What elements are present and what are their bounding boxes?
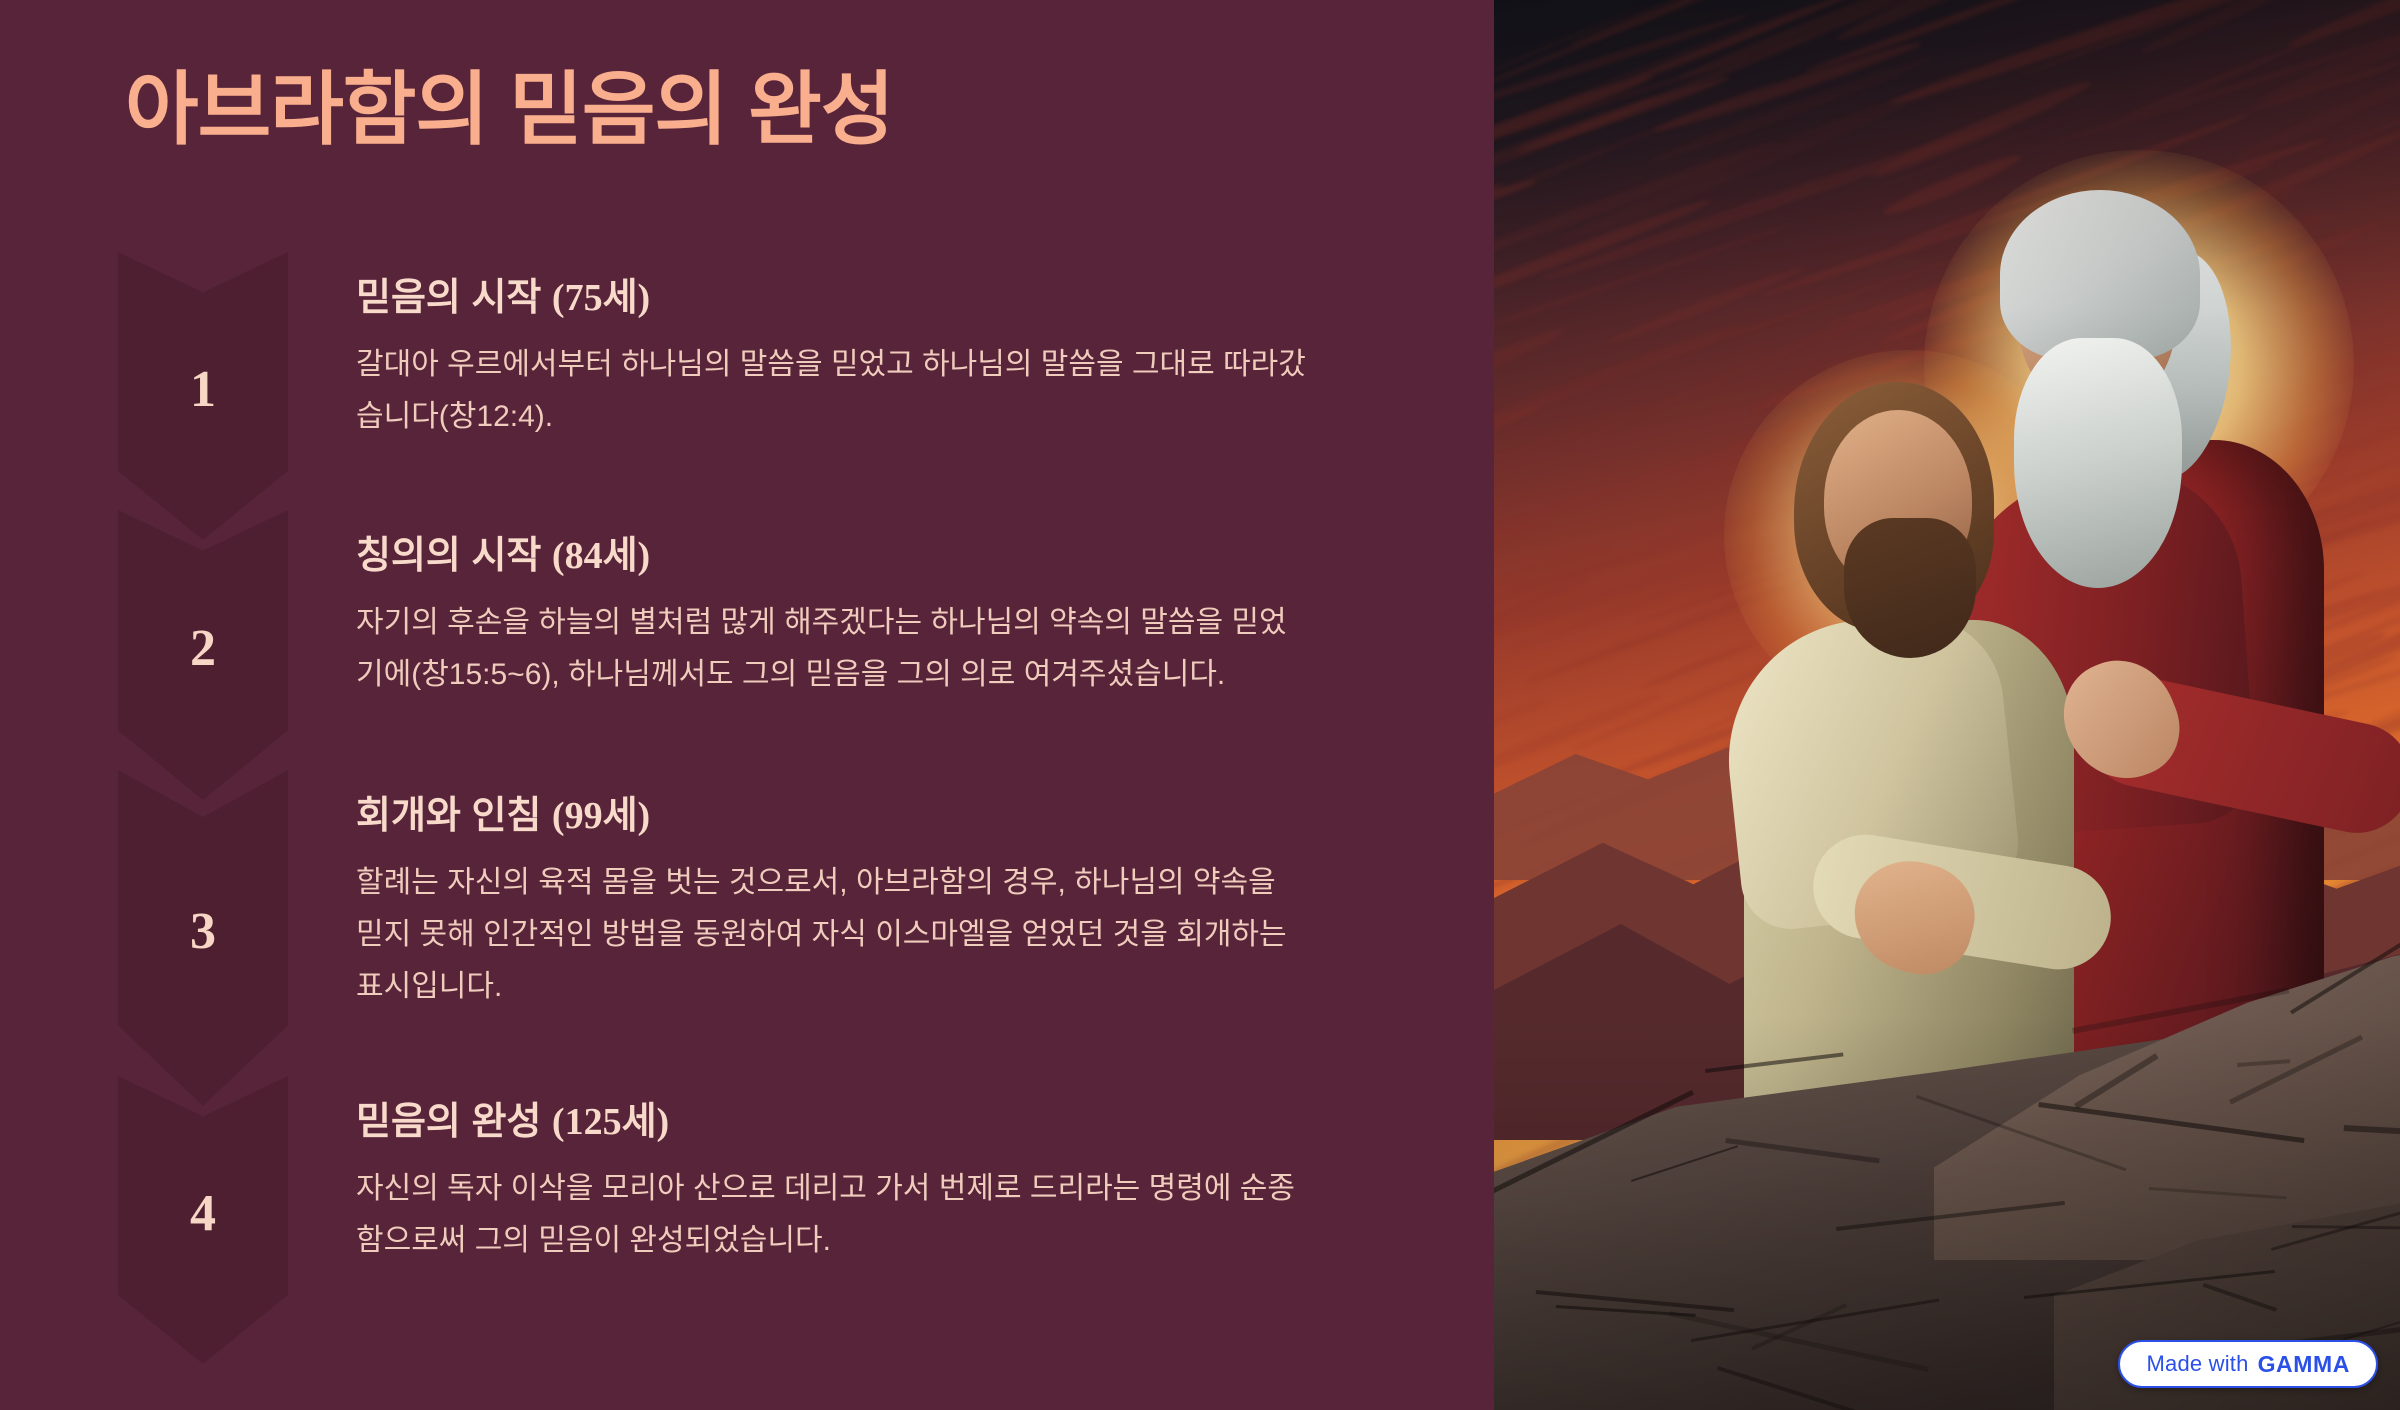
step-heading-main: 회개와 인침 bbox=[356, 795, 552, 837]
step-description: 할례는 자신의 육적 몸을 벗는 것으로서, 아브라함의 경우, 하나님의 약속… bbox=[356, 857, 1310, 1012]
steps-list: 1 믿음의 시작 (75세) 갈대아 우르에서부터 하나님의 말씀을 믿었고 하… bbox=[0, 252, 1494, 1326]
step-heading-age: (75세) bbox=[552, 277, 650, 319]
step-number-badge: 2 bbox=[118, 510, 288, 800]
step-heading-age: (84세) bbox=[552, 535, 650, 577]
step-heading-main: 믿음의 완성 bbox=[356, 1101, 552, 1143]
step-heading-main: 믿음의 시작 bbox=[356, 277, 552, 319]
step-badge-wrap: 4 bbox=[118, 1076, 288, 1326]
step-heading: 회개와 인침 (99세) bbox=[356, 792, 1310, 841]
step-heading-age: (125세) bbox=[552, 1101, 669, 1143]
list-item: 3 회개와 인침 (99세) 할례는 자신의 육적 몸을 벗는 것으로서, 아브… bbox=[0, 770, 1420, 1076]
step-number: 1 bbox=[190, 364, 216, 416]
list-item: 4 믿음의 완성 (125세) 자신의 독자 이삭을 모리아 산으로 데리고 가… bbox=[0, 1076, 1420, 1326]
step-badge-wrap: 3 bbox=[118, 770, 288, 1076]
made-with-gamma-badge[interactable]: Made with GAMMA bbox=[2118, 1340, 2378, 1388]
step-number: 3 bbox=[190, 906, 216, 958]
step-number-badge: 3 bbox=[118, 770, 288, 1106]
step-number-badge: 1 bbox=[118, 252, 288, 540]
step-description: 자신의 독자 이삭을 모리아 산으로 데리고 가서 번제로 드리라는 명령에 순… bbox=[356, 1163, 1310, 1266]
step-body: 믿음의 완성 (125세) 자신의 독자 이삭을 모리아 산으로 데리고 가서 … bbox=[288, 1076, 1420, 1267]
step-number-badge: 4 bbox=[118, 1076, 288, 1364]
step-heading-main: 칭의의 시작 bbox=[356, 535, 552, 577]
step-body: 칭의의 시작 (84세) 자기의 후손을 하늘의 별처럼 많게 해주겠다는 하나… bbox=[288, 510, 1420, 701]
content-panel: 아브라함의 믿음의 완성 1 믿음의 시작 (75세) 갈대아 우르에서부터 하… bbox=[0, 0, 1494, 1410]
slide-root: 아브라함의 믿음의 완성 1 믿음의 시작 (75세) 갈대아 우르에서부터 하… bbox=[0, 0, 2400, 1410]
gamma-brand-label: GAMMA bbox=[2258, 1351, 2350, 1378]
step-description: 갈대아 우르에서부터 하나님의 말씀을 믿었고 하나님의 말씀을 그대로 따라갔… bbox=[356, 339, 1310, 442]
step-heading: 칭의의 시작 (84세) bbox=[356, 532, 1310, 581]
illustration-panel: Made with GAMMA bbox=[1494, 0, 2400, 1410]
gamma-made-with-label: Made with bbox=[2146, 1351, 2248, 1377]
list-item: 1 믿음의 시작 (75세) 갈대아 우르에서부터 하나님의 말씀을 믿었고 하… bbox=[0, 252, 1420, 510]
illustration-artwork bbox=[1494, 0, 2400, 1410]
step-heading-age: (99세) bbox=[552, 795, 650, 837]
step-body: 믿음의 시작 (75세) 갈대아 우르에서부터 하나님의 말씀을 믿었고 하나님… bbox=[288, 252, 1420, 443]
step-heading: 믿음의 완성 (125세) bbox=[356, 1098, 1310, 1147]
step-badge-wrap: 1 bbox=[118, 252, 288, 510]
step-number: 4 bbox=[190, 1188, 216, 1240]
artwork-vignette bbox=[1494, 0, 2400, 1410]
step-description: 자기의 후손을 하늘의 별처럼 많게 해주겠다는 하나님의 약속의 말씀을 믿었… bbox=[356, 597, 1310, 700]
step-heading: 믿음의 시작 (75세) bbox=[356, 274, 1310, 323]
page-title: 아브라함의 믿음의 완성 bbox=[125, 60, 893, 160]
step-badge-wrap: 2 bbox=[118, 510, 288, 770]
step-body: 회개와 인침 (99세) 할례는 자신의 육적 몸을 벗는 것으로서, 아브라함… bbox=[288, 770, 1420, 1012]
step-number: 2 bbox=[190, 623, 216, 675]
list-item: 2 칭의의 시작 (84세) 자기의 후손을 하늘의 별처럼 많게 해주겠다는 … bbox=[0, 510, 1420, 770]
